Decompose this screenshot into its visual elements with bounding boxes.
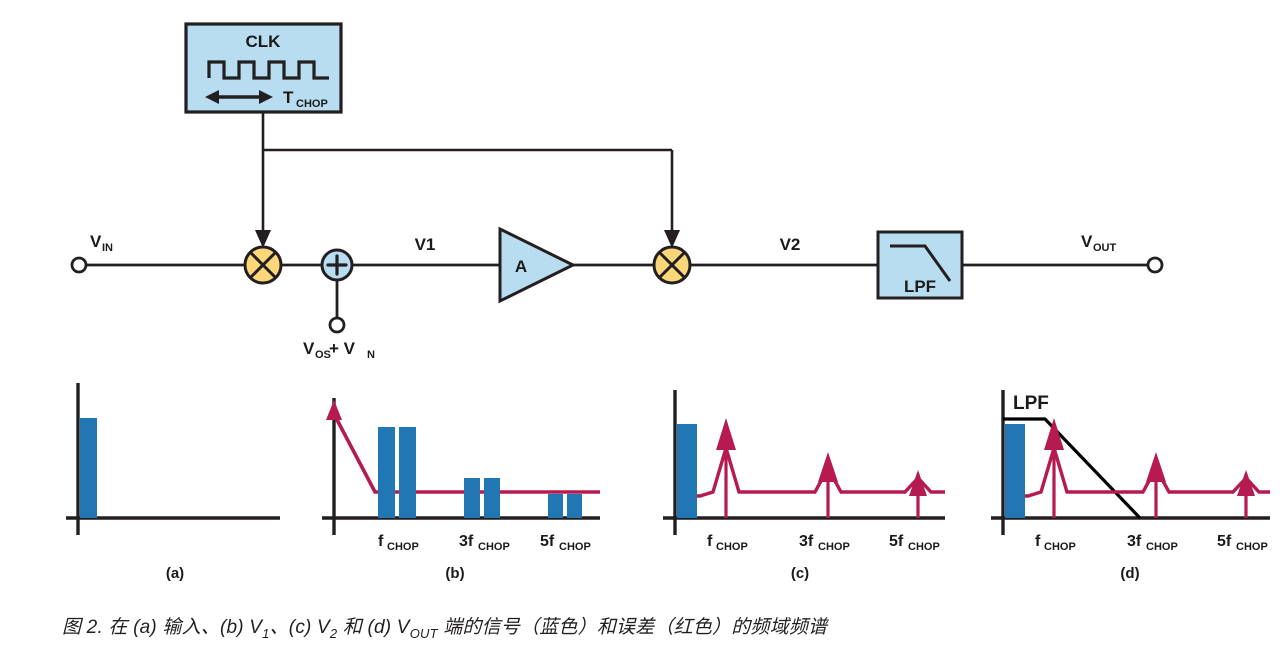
lpf-block-label: LPF [904,277,936,296]
tick-f3-d: 3f [1127,533,1142,550]
input-terminal-node [72,258,86,272]
tick-f5-sub-b: CHOP [559,541,591,553]
noise-terminal-node [330,318,344,332]
error-arrowhead-f3-d [1146,452,1166,482]
error-arrowhead-f1-c [716,418,736,450]
tick-labels-c: f CHOP 3f CHOP 5f CHOP [707,533,940,553]
error-noise-floor-d [1005,448,1270,496]
signal-bar-dc-a [80,418,97,518]
amplifier[interactable]: A [500,229,573,301]
net-label-v2: V2 [780,235,801,254]
tick-f1-c: f [707,533,713,550]
figure-caption: 图 2. 在 (a) 输入、(b) V1、(c) V2 和 (d) VOUT 端… [62,612,1242,641]
spectrum-plot-d: LPF f CHOP 3f CHOP 5f CHOP (d) [991,390,1270,582]
tick-f1-sub-d: CHOP [1044,541,1076,553]
caption-sub-vout: OUT [410,626,438,641]
tick-f3-sub-b: CHOP [478,541,510,553]
low-pass-filter-block[interactable]: LPF [878,232,962,298]
tick-f5-c: 5f [889,533,904,550]
output-terminal-label: V [1081,232,1093,251]
summing-node[interactable] [322,250,352,280]
tick-f5-sub-d: CHOP [1236,541,1268,553]
tick-f3-sub-c: CHOP [818,541,850,553]
signal-bar-dc-c [677,424,697,518]
caption-suffix: 端的信号（蓝色）和误差（红色）的频域频谱 [438,617,827,638]
period-label: T [283,88,294,107]
error-curve-b [326,400,600,492]
spectrum-plot-c: f CHOP 3f CHOP 5f CHOP (c) [663,390,945,582]
tick-f5-sub-c: CHOP [908,541,940,553]
mixer-output[interactable] [654,247,690,283]
input-terminal-label: V [90,232,102,251]
caption-prefix: 图 2. 在 (a) 输入、(b) V [62,617,262,638]
panel-label-d: (d) [1120,565,1139,582]
amplifier-body [500,229,573,301]
signal-bar-dc-d [1005,424,1025,518]
tick-f1-d: f [1035,533,1041,550]
signal-bar [548,494,563,518]
mixer-input[interactable] [245,247,281,283]
clock-arrow-left-icon [255,230,271,248]
error-spikes-c [716,418,927,518]
clock-block: CLK T CHOP [186,24,341,112]
tick-labels-b: f CHOP 3f CHOP 5f CHOP [378,533,591,553]
period-label-subscript: CHOP [296,98,328,110]
tick-f1-b: f [378,533,384,550]
noise-label-vn-subscript: N [367,349,375,361]
caption-mid-1: 、(c) V [270,617,330,638]
panel-label-c: (c) [791,565,809,582]
noise-label-vos: V [303,339,315,358]
error-noise-floor-c [677,448,945,496]
output-terminal-label-subscript: OUT [1093,242,1117,254]
tick-labels-d: f CHOP 3f CHOP 5f CHOP [1035,533,1268,553]
lpf-annotation-d: LPF [1013,393,1049,414]
error-arrowhead-f3-c [818,452,838,482]
error-arrowhead-dc-b [326,400,342,420]
caption-mid-2: 和 (d) V [337,617,409,638]
clock-title: CLK [246,32,282,51]
panel-label-a: (a) [166,565,184,582]
net-label-v1: V1 [415,235,436,254]
noise-source-terminal: V OS + V N [303,318,375,361]
signal-bar [399,427,416,518]
signal-bar [484,478,500,518]
signal-bar [567,494,582,518]
signal-bar [378,427,395,518]
signal-bar [464,478,480,518]
figure-canvas: CLK T CHOP V IN [0,0,1282,666]
tick-f1-sub-b: CHOP [387,541,419,553]
spectrum-plot-b: f CHOP 3f CHOP 5f CHOP (b) [322,398,600,582]
caption-sub-v1: 1 [262,626,269,641]
amplifier-label: A [515,257,527,276]
tick-f5-b: 5f [540,533,555,550]
output-terminal-node [1148,258,1162,272]
noise-label-plus-vn: + V [329,339,356,358]
tick-f1-sub-c: CHOP [716,541,748,553]
tick-f3-sub-d: CHOP [1146,541,1178,553]
clock-routing [255,112,680,248]
tick-f3-c: 3f [799,533,814,550]
clock-arrow-right-icon [664,230,680,248]
figure-root: CLK T CHOP V IN [0,0,1282,666]
signal-bars-b [378,427,582,518]
panel-label-b: (b) [445,565,464,582]
tick-f5-d: 5f [1217,533,1232,550]
error-spikes-d [1044,418,1255,518]
input-terminal-label-subscript: IN [102,242,113,254]
spectrum-plot-a: (a) [66,383,280,582]
tick-f3-b: 3f [459,533,474,550]
